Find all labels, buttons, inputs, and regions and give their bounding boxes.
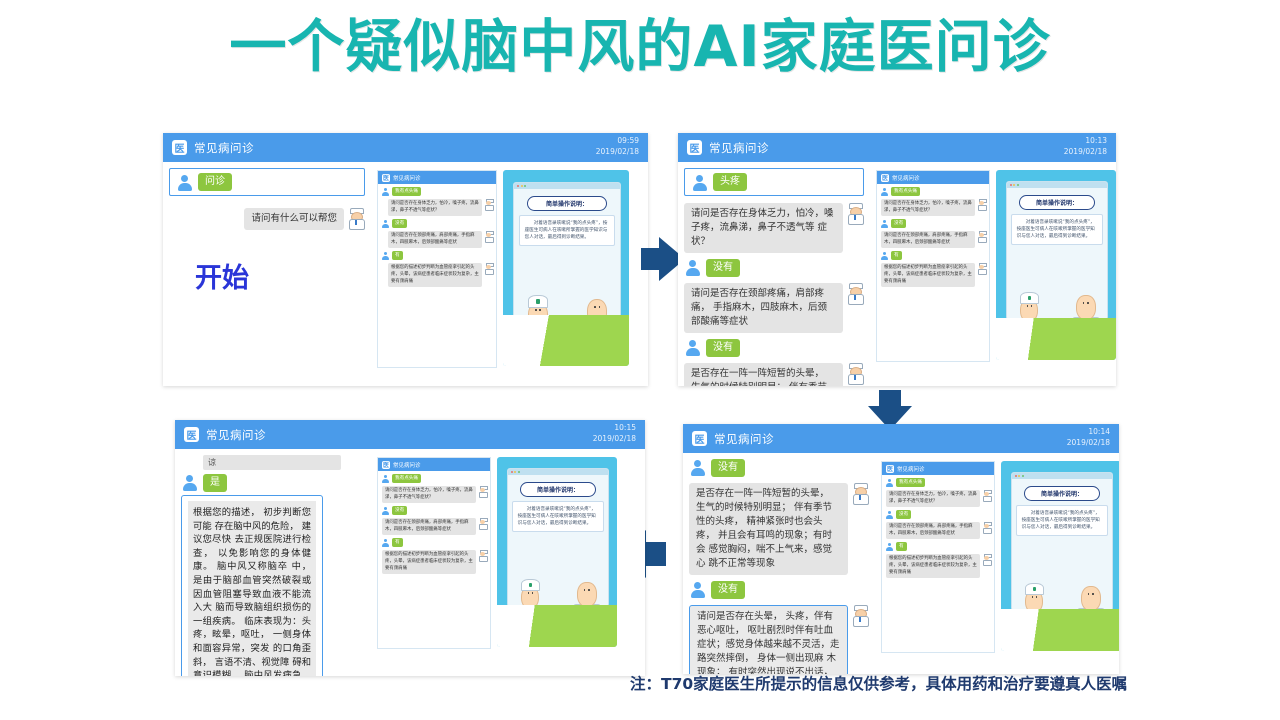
- timestamp: 09:59 2019/02/18: [596, 135, 639, 157]
- grass-decoration: [503, 315, 629, 366]
- med-icon: 医: [382, 174, 390, 182]
- time-value: 10:13: [1064, 135, 1107, 146]
- footnote: 注：T70家庭医生所提示的信息仅供参考，具体用药和治疗要遵真人医嘱: [630, 672, 1127, 694]
- user-avatar-icon: [885, 478, 894, 487]
- bot-message: 请问是否存在颈部疼痛，肩部疼痛，手指麻木，四肢麻木，后颈部酸痛等症状: [382, 518, 476, 535]
- chat-row: 没有: [689, 581, 869, 599]
- grass-decoration: [996, 318, 1116, 360]
- chat-row: 请问是否存在头晕， 头疼，伴有 恶心呕吐， 呕吐剧烈时伴有吐血 症状；感觉身体越…: [689, 605, 869, 674]
- med-icon: 医: [692, 431, 707, 446]
- panel-body: 没有 是否存在一阵一阵短暂的头晕， 生气的时候特别明显； 伴有季节 性的头疼， …: [683, 453, 1119, 674]
- list-item: 没有: [885, 510, 991, 519]
- window-dots: [514, 183, 620, 189]
- list-item: 没有: [381, 506, 487, 515]
- mini-app-title: 常见病问诊: [892, 174, 920, 182]
- list-item: 根据您的描述初步判断为血管痉挛引起的头疼，头晕，该病症患者临床症状较为复杂，主要…: [880, 263, 986, 287]
- timestamp: 10:15 2019/02/18: [593, 422, 636, 444]
- med-icon: 医: [184, 427, 199, 442]
- user-avatar-icon: [181, 474, 198, 491]
- bot-message: 根据您的描述初步判断为血管痉挛引起的头疼，头晕，该病症患者临床症状较为复杂，主要…: [886, 554, 980, 578]
- mini-app-title: 常见病问诊: [897, 465, 925, 473]
- instruction-body: 对着语音录咳嗽说“我的点头疼”，按座医生可病人在咳嗽所掌握的医学知识与您人对话，…: [512, 501, 605, 532]
- user-avatar-icon: [381, 219, 390, 228]
- user-avatar-icon: [880, 187, 889, 196]
- user-message: 有: [392, 538, 403, 547]
- doctor-avatar-icon: [977, 199, 986, 209]
- bot-message: 请问是否存在身体乏力，怕冷，嗓子疼，流鼻涕，鼻子不透气等症状？: [881, 199, 975, 216]
- bot-message: 是否存在一阵一阵短暂的头晕， 生气的时候特别明显； 伴有季节 性的头疼， 精神紧…: [689, 483, 848, 575]
- chat-column: 头疼 请问是否存在身体乏力，怕冷，嗓子疼，流鼻涕，鼻子不透气等 症状？ 没有 请…: [678, 162, 870, 386]
- user-message: 没有: [392, 506, 407, 515]
- list-item: 请问是否存在颈部疼痛，肩部疼痛，手指麻木，四肢麻木，后颈部酸痛等症状: [381, 231, 493, 248]
- doctor-avatar-icon: [977, 263, 986, 273]
- user-avatar-icon: [689, 459, 706, 476]
- bot-message: 请问是否存在颈部疼痛，肩部疼 痛， 手指麻木，四肢麻木，后颈 部酸痛等症状: [684, 283, 843, 333]
- grass-decoration: [1001, 609, 1119, 651]
- app-title: 常见病问诊: [714, 431, 774, 447]
- user-message: 我有点头痛: [896, 478, 925, 487]
- chat-column: 问诊 请问有什么可以帮您 开始: [163, 162, 371, 386]
- screenshot-column: 医 常见病问诊 我有点头痛 请问是否存在身体乏力，怕冷，嗓子疼，流鼻涕，鼻子不透…: [870, 162, 1116, 386]
- instruction-heading: 简单操作说明：: [1019, 195, 1096, 210]
- user-message: 头疼: [713, 173, 747, 191]
- bot-message: 是否存在一阵一阵短暂的头晕， 生气的时候特别明显； 伴有季节 性的头: [684, 363, 843, 386]
- bot-message: 请问是否存在颈部疼痛，肩部疼痛，手指麻木，四肢麻木，后颈部酸痛等症状: [881, 231, 975, 248]
- page-title: 一个疑似脑中风的AI家庭医问诊: [0, 16, 1280, 79]
- bot-message: 根据您的描述初步判断为血管痉挛引起的头疼，头晕，该病症患者临床症状较为复杂，主要…: [388, 263, 482, 287]
- user-message: 没有: [392, 219, 407, 228]
- user-message: 我有点头痛: [392, 187, 421, 196]
- list-item: 我有点头痛: [880, 187, 986, 196]
- panel-symptoms[interactable]: 医 常见病问诊 10:13 2019/02/18 头疼 请问是否存在身体乏力，怕…: [678, 133, 1116, 386]
- doctor-avatar-icon: [851, 605, 869, 625]
- window-dots: [1012, 473, 1113, 479]
- chat-row: 是否存在一阵一阵短暂的头晕， 生气的时候特别明显； 伴有季节 性的头: [684, 363, 864, 386]
- chat-column: 谅 是 根据您的描述， 初步判断您可能 存在脑中风的危险， 建议您尽快 去正规医…: [175, 449, 371, 676]
- instruction-illustration: 简单操作说明： 对着语音录咳嗽说“我的点头疼”，按座医生可病人在咳嗽所掌握的医学…: [996, 170, 1116, 360]
- mini-chat-list: 我有点头痛 请问是否存在身体乏力，怕冷，嗓子疼，流鼻涕，鼻子不透气等症状？ 没有…: [877, 184, 989, 287]
- user-message: 没有: [706, 339, 740, 357]
- list-item: 有: [880, 251, 986, 260]
- chat-row: 请问有什么可以帮您: [169, 208, 365, 230]
- user-avatar-icon: [885, 510, 894, 519]
- doctor-avatar-icon: [982, 490, 991, 500]
- list-item: 我有点头痛: [381, 474, 487, 483]
- panel-start[interactable]: 医 常见病问诊 09:59 2019/02/18 问诊 请问有什么可以帮您: [163, 133, 648, 386]
- doctor-avatar-icon: [846, 283, 864, 303]
- user-message: 没有: [711, 459, 745, 477]
- instruction-heading: 简单操作说明：: [1024, 486, 1101, 501]
- diagnosis-bubble: 根据您的描述， 初步判断您可能 存在脑中风的危险， 建议您尽快 去正规医院进行检…: [181, 495, 323, 676]
- list-item: 有: [381, 251, 493, 260]
- date-value: 2019/02/18: [1067, 437, 1110, 448]
- instruction-body: 对着语音录咳嗽说“我的点头疼”，按座医生可病人在咳嗽所掌握的医学知识与您人对话，…: [519, 215, 616, 246]
- diagnosis-text: 根据您的描述， 初步判断您可能 存在脑中风的危险， 建议您尽快 去正规医院进行检…: [188, 501, 316, 676]
- doctor-avatar-icon: [484, 231, 493, 241]
- doctor-avatar-icon: [478, 550, 487, 560]
- list-item: 根据您的描述初步判断为血管痉挛引起的头疼，头晕，该病症患者临床症状较为复杂，主要…: [885, 554, 991, 578]
- panel-body: 谅 是 根据您的描述， 初步判断您可能 存在脑中风的危险， 建议您尽快 去正规医…: [175, 449, 645, 676]
- bot-message: 请问有什么可以帮您: [244, 208, 344, 230]
- bot-message: 根据您的描述初步判断为血管痉挛引起的头疼，头晕，该病症患者临床症状较为复杂，主要…: [382, 550, 476, 574]
- user-message: 没有: [711, 581, 745, 599]
- inquiry-input-box[interactable]: 问诊: [169, 168, 365, 196]
- instruction-heading: 简单操作说明：: [520, 482, 597, 497]
- mini-header: 医 常见病问诊: [378, 458, 490, 471]
- list-item: 请问是否存在身体乏力，怕冷，嗓子疼，流鼻涕，鼻子不透气等症状？: [381, 486, 487, 503]
- list-item: 根据您的描述初步判断为血管痉挛引起的头疼，头晕，该病症患者临床症状较为复杂，主要…: [381, 550, 487, 574]
- list-item: 请问是否存在身体乏力，怕冷，嗓子疼，流鼻涕，鼻子不透气等症状？: [880, 199, 986, 216]
- inquiry-badge: 问诊: [198, 173, 232, 191]
- panel-header: 医 常见病问诊 10:15 2019/02/18: [175, 420, 645, 449]
- mini-header: 医 常见病问诊: [882, 462, 994, 475]
- med-icon: 医: [382, 461, 390, 469]
- message-input[interactable]: 谅: [203, 455, 341, 470]
- chat-row: 请问是否存在颈部疼痛，肩部疼 痛， 手指麻木，四肢麻木，后颈 部酸痛等症状: [684, 283, 864, 333]
- time-value: 10:15: [593, 422, 636, 433]
- user-message: 没有: [896, 510, 911, 519]
- doctor-avatar-icon: [484, 263, 493, 273]
- user-message: 是: [203, 474, 227, 492]
- mini-app-title: 常见病问诊: [393, 174, 421, 182]
- user-message: 我有点头痛: [891, 187, 920, 196]
- bot-message: 请问是否存在颈部疼痛，肩部疼痛，手指麻木，四肢麻木，后颈部酸痛等症状: [886, 522, 980, 539]
- mini-header: 医 常见病问诊: [378, 171, 496, 184]
- time-value: 09:59: [596, 135, 639, 146]
- bot-message: 请问是否存在身体乏力，怕冷，嗓子疼，流鼻涕，鼻子不透气等症状？: [388, 199, 482, 216]
- mini-chat-list: 我有点头痛 请问是否存在身体乏力，怕冷，嗓子疼，流鼻涕，鼻子不透气等症状？ 没有…: [378, 471, 490, 574]
- doctor-avatar-icon: [851, 483, 869, 503]
- timestamp: 10:13 2019/02/18: [1064, 135, 1107, 157]
- panel-body: 问诊 请问有什么可以帮您 开始 医 常见病问诊: [163, 162, 648, 386]
- user-avatar-icon: [689, 581, 706, 598]
- screenshot-column: 医 常见病问诊 我有点头痛 请问是否存在身体乏力，怕冷，嗓子疼，流鼻涕，鼻子不透…: [875, 453, 1119, 674]
- list-item: 我有点头痛: [885, 478, 991, 487]
- mini-chat-screenshot[interactable]: 医 常见病问诊 我有点头痛 请问是否存在身体乏力，怕冷，嗓子疼，流鼻涕，鼻子不透…: [881, 461, 995, 653]
- panel-header: 医 常见病问诊 09:59 2019/02/18: [163, 133, 648, 162]
- user-avatar-icon: [381, 187, 390, 196]
- user-message: 没有: [706, 259, 740, 277]
- user-message: 没有: [891, 219, 906, 228]
- list-item: 根据您的描述初步判断为血管痉挛引起的头疼，头晕，该病症患者临床症状较为复杂，主要…: [381, 263, 493, 287]
- list-item: 没有: [880, 219, 986, 228]
- panel-diagnosis[interactable]: 医 常见病问诊 10:15 2019/02/18 谅 是 根据您的描述， 初步判…: [175, 420, 645, 676]
- doctor-avatar-icon: [347, 208, 365, 228]
- bot-message: 请问是否存在身体乏力，怕冷，嗓子疼，流鼻涕，鼻子不透气等症状？: [382, 486, 476, 503]
- panel-more-symptoms[interactable]: 医 常见病问诊 10:14 2019/02/18 没有 是否存在一阵一阵短暂的头…: [683, 424, 1119, 674]
- list-item: 有: [885, 542, 991, 551]
- mini-app-title: 常见病问诊: [393, 461, 421, 469]
- user-message: 我有点头痛: [392, 474, 421, 483]
- list-item: 请问是否存在身体乏力，怕冷，嗓子疼，流鼻涕，鼻子不透气等症状？: [885, 490, 991, 507]
- slide-canvas: 一个疑似脑中风的AI家庭医问诊 医 常见病问诊 09:59 2019/02/18…: [0, 0, 1280, 720]
- chat-column: 没有 是否存在一阵一阵短暂的头晕， 生气的时候特别明显； 伴有季节 性的头疼， …: [683, 453, 875, 674]
- list-item: 我有点头痛: [381, 187, 493, 196]
- chat-row: 没有: [684, 259, 864, 277]
- doctor-avatar-icon: [982, 554, 991, 564]
- user-avatar-icon: [684, 259, 701, 276]
- start-callout: 开始: [195, 256, 365, 295]
- mini-chat-screenshot[interactable]: 医 常见病问诊 我有点头痛 请问是否存在身体乏力，怕冷，嗓子疼，流鼻涕，鼻子不透…: [876, 170, 990, 362]
- timestamp: 10:14 2019/02/18: [1067, 426, 1110, 448]
- date-value: 2019/02/18: [1064, 146, 1107, 157]
- user-avatar-icon: [691, 174, 708, 191]
- bot-message: 根据您的描述初步判断为血管痉挛引起的头疼，头晕，该病症患者临床症状较为复杂，主要…: [881, 263, 975, 287]
- app-title: 常见病问诊: [206, 427, 266, 443]
- panel-body: 头疼 请问是否存在身体乏力，怕冷，嗓子疼，流鼻涕，鼻子不透气等 症状？ 没有 请…: [678, 162, 1116, 386]
- doctor-avatar-icon: [478, 486, 487, 496]
- bot-message: 请问是否存在头晕， 头疼，伴有 恶心呕吐， 呕吐剧烈时伴有吐血 症状；感觉身体越…: [689, 605, 848, 674]
- mini-chat-list: 我有点头痛 请问是否存在身体乏力，怕冷，嗓子疼，流鼻涕，鼻子不透气等症状？ 没有…: [378, 184, 496, 287]
- instruction-body: 对着语音录咳嗽说“我的点头疼”，按座医生可病人在咳嗽所掌握的医学知识与您人对话，…: [1016, 505, 1109, 536]
- bot-message: 请问是否存在身体乏力，怕冷，嗓子疼，流鼻涕，鼻子不透气等 症状？: [684, 203, 843, 253]
- list-item: 没有: [381, 219, 493, 228]
- time-value: 10:14: [1067, 426, 1110, 437]
- instruction-illustration: 简单操作说明： 对着语音录咳嗽说“我的点头疼”，按座医生可病人在咳嗽所掌握的医学…: [503, 170, 629, 366]
- window-dots: [508, 469, 609, 475]
- app-title: 常见病问诊: [709, 140, 769, 156]
- instruction-illustration: 简单操作说明： 对着语音录咳嗽说“我的点头疼”，按座医生可病人在咳嗽所掌握的医学…: [1001, 461, 1119, 651]
- window-dots: [1007, 182, 1108, 188]
- med-icon: 医: [886, 465, 894, 473]
- date-value: 2019/02/18: [596, 146, 639, 157]
- med-icon: 医: [172, 140, 187, 155]
- grass-decoration: [497, 605, 617, 647]
- instruction-heading: 简单操作说明：: [527, 196, 607, 211]
- user-avatar-icon: [880, 251, 889, 260]
- user-avatar-icon: [381, 538, 390, 547]
- chat-row: 请问是否存在身体乏力，怕冷，嗓子疼，流鼻涕，鼻子不透气等 症状？: [684, 203, 864, 253]
- instruction-body: 对着语音录咳嗽说“我的点头疼”，按座医生可病人在咳嗽所掌握的医学知识与您人对话，…: [1011, 214, 1104, 245]
- user-avatar-icon: [176, 174, 193, 191]
- doctor-avatar-icon: [484, 199, 493, 209]
- med-icon: 医: [881, 174, 889, 182]
- app-title: 常见病问诊: [194, 140, 254, 156]
- med-icon: 医: [687, 140, 702, 155]
- symptom-input-box[interactable]: 头疼: [684, 168, 864, 196]
- chat-row: 没有: [684, 339, 864, 357]
- user-avatar-icon: [381, 474, 390, 483]
- bot-message: 请问是否存在身体乏力，怕冷，嗓子疼，流鼻涕，鼻子不透气等症状？: [886, 490, 980, 507]
- panel-header: 医 常见病问诊 10:14 2019/02/18: [683, 424, 1119, 453]
- list-item: 请问是否存在颈部疼痛，肩部疼痛，手指麻木，四肢麻木，后颈部酸痛等症状: [885, 522, 991, 539]
- screenshot-column: 医 常见病问诊 我有点头痛 请问是否存在身体乏力，怕冷，嗓子疼，流鼻涕，鼻子不透…: [371, 449, 645, 676]
- list-item: 请问是否存在颈部疼痛，肩部疼痛，手指麻木，四肢麻木，后颈部酸痛等症状: [880, 231, 986, 248]
- doctor-avatar-icon: [478, 518, 487, 528]
- user-message: 有: [891, 251, 902, 260]
- user-avatar-icon: [880, 219, 889, 228]
- doctor-avatar-icon: [846, 203, 864, 223]
- chat-row: 是否存在一阵一阵短暂的头晕， 生气的时候特别明显； 伴有季节 性的头疼， 精神紧…: [689, 483, 869, 575]
- mini-chat-screenshot[interactable]: 医 常见病问诊 我有点头痛 请问是否存在身体乏力，怕冷，嗓子疼，流鼻涕，鼻子不透…: [377, 457, 491, 649]
- user-avatar-icon: [885, 542, 894, 551]
- doctor-avatar-icon: [982, 522, 991, 532]
- user-avatar-icon: [381, 506, 390, 515]
- screenshot-column: 医 常见病问诊 我有点头痛 请问是否存在身体乏力，怕冷，嗓子疼，流鼻涕，鼻子不透…: [371, 162, 648, 386]
- instruction-illustration: 简单操作说明： 对着语音录咳嗽说“我的点头疼”，按座医生可病人在咳嗽所掌握的医学…: [497, 457, 617, 647]
- date-value: 2019/02/18: [593, 433, 636, 444]
- list-item: 请问是否存在颈部疼痛，肩部疼痛，手指麻木，四肢麻木，后颈部酸痛等症状: [381, 518, 487, 535]
- mini-header: 医 常见病问诊: [877, 171, 989, 184]
- list-item: 请问是否存在身体乏力，怕冷，嗓子疼，流鼻涕，鼻子不透气等症状？: [381, 199, 493, 216]
- chat-row: 是: [181, 474, 365, 492]
- panel-header: 医 常见病问诊 10:13 2019/02/18: [678, 133, 1116, 162]
- doctor-avatar-icon: [977, 231, 986, 241]
- user-avatar-icon: [684, 339, 701, 356]
- user-message: 有: [896, 542, 907, 551]
- mini-chat-list: 我有点头痛 请问是否存在身体乏力，怕冷，嗓子疼，流鼻涕，鼻子不透气等症状？ 没有…: [882, 475, 994, 578]
- user-avatar-icon: [381, 251, 390, 260]
- doctor-avatar-icon: [846, 363, 864, 383]
- mini-chat-screenshot[interactable]: 医 常见病问诊 我有点头痛 请问是否存在身体乏力，怕冷，嗓子疼，流鼻涕，鼻子不透…: [377, 170, 497, 368]
- chat-row: 没有: [689, 459, 869, 477]
- user-message: 有: [392, 251, 403, 260]
- list-item: 有: [381, 538, 487, 547]
- bot-message: 请问是否存在颈部疼痛，肩部疼痛，手指麻木，四肢麻木，后颈部酸痛等症状: [388, 231, 482, 248]
